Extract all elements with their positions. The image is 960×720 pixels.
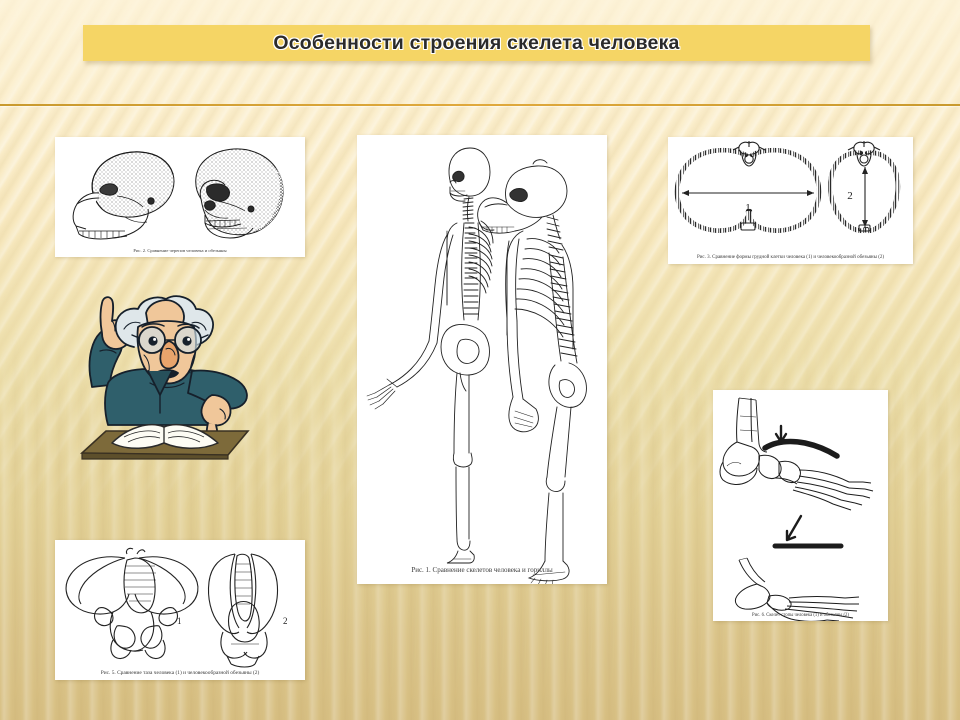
pelvis-label-2: 2 <box>283 616 288 626</box>
title-banner: Особенности строения скелета человека <box>83 25 870 61</box>
figure-skull-comparison: Рис. 2. Сравнение черепов человека и обе… <box>55 137 305 257</box>
title-divider <box>0 104 960 106</box>
pelvis-comparison-illustration: 1 2 <box>55 540 305 680</box>
figure-thorax-comparison: 1 2 <box>668 137 913 264</box>
thorax-label-1: 1 <box>745 202 751 214</box>
thorax-comparison-illustration: 1 2 <box>668 137 913 264</box>
thorax-label-2: 2 <box>847 190 853 202</box>
page-title: Особенности строения скелета человека <box>273 32 679 55</box>
skeleton-comparison-illustration <box>357 135 607 584</box>
skull-comparison-illustration <box>55 137 305 257</box>
figure-foot-comparison: Рис. 6. Скелет стопы человека (1) и обез… <box>713 390 888 621</box>
figure-skeleton-comparison: Рис. 1. Сравнение скелетов человека и го… <box>357 135 607 584</box>
figure-pelvis-comparison: 1 2 Рис. 5. Сравнение таза ч <box>55 540 305 680</box>
professor-illustration <box>72 283 260 468</box>
foot-comparison-illustration <box>713 390 888 621</box>
cartoon-professor-with-book <box>72 283 260 468</box>
slide-canvas: Особенности строения скелета человека <box>0 0 960 720</box>
pelvis-label-1: 1 <box>177 616 182 626</box>
